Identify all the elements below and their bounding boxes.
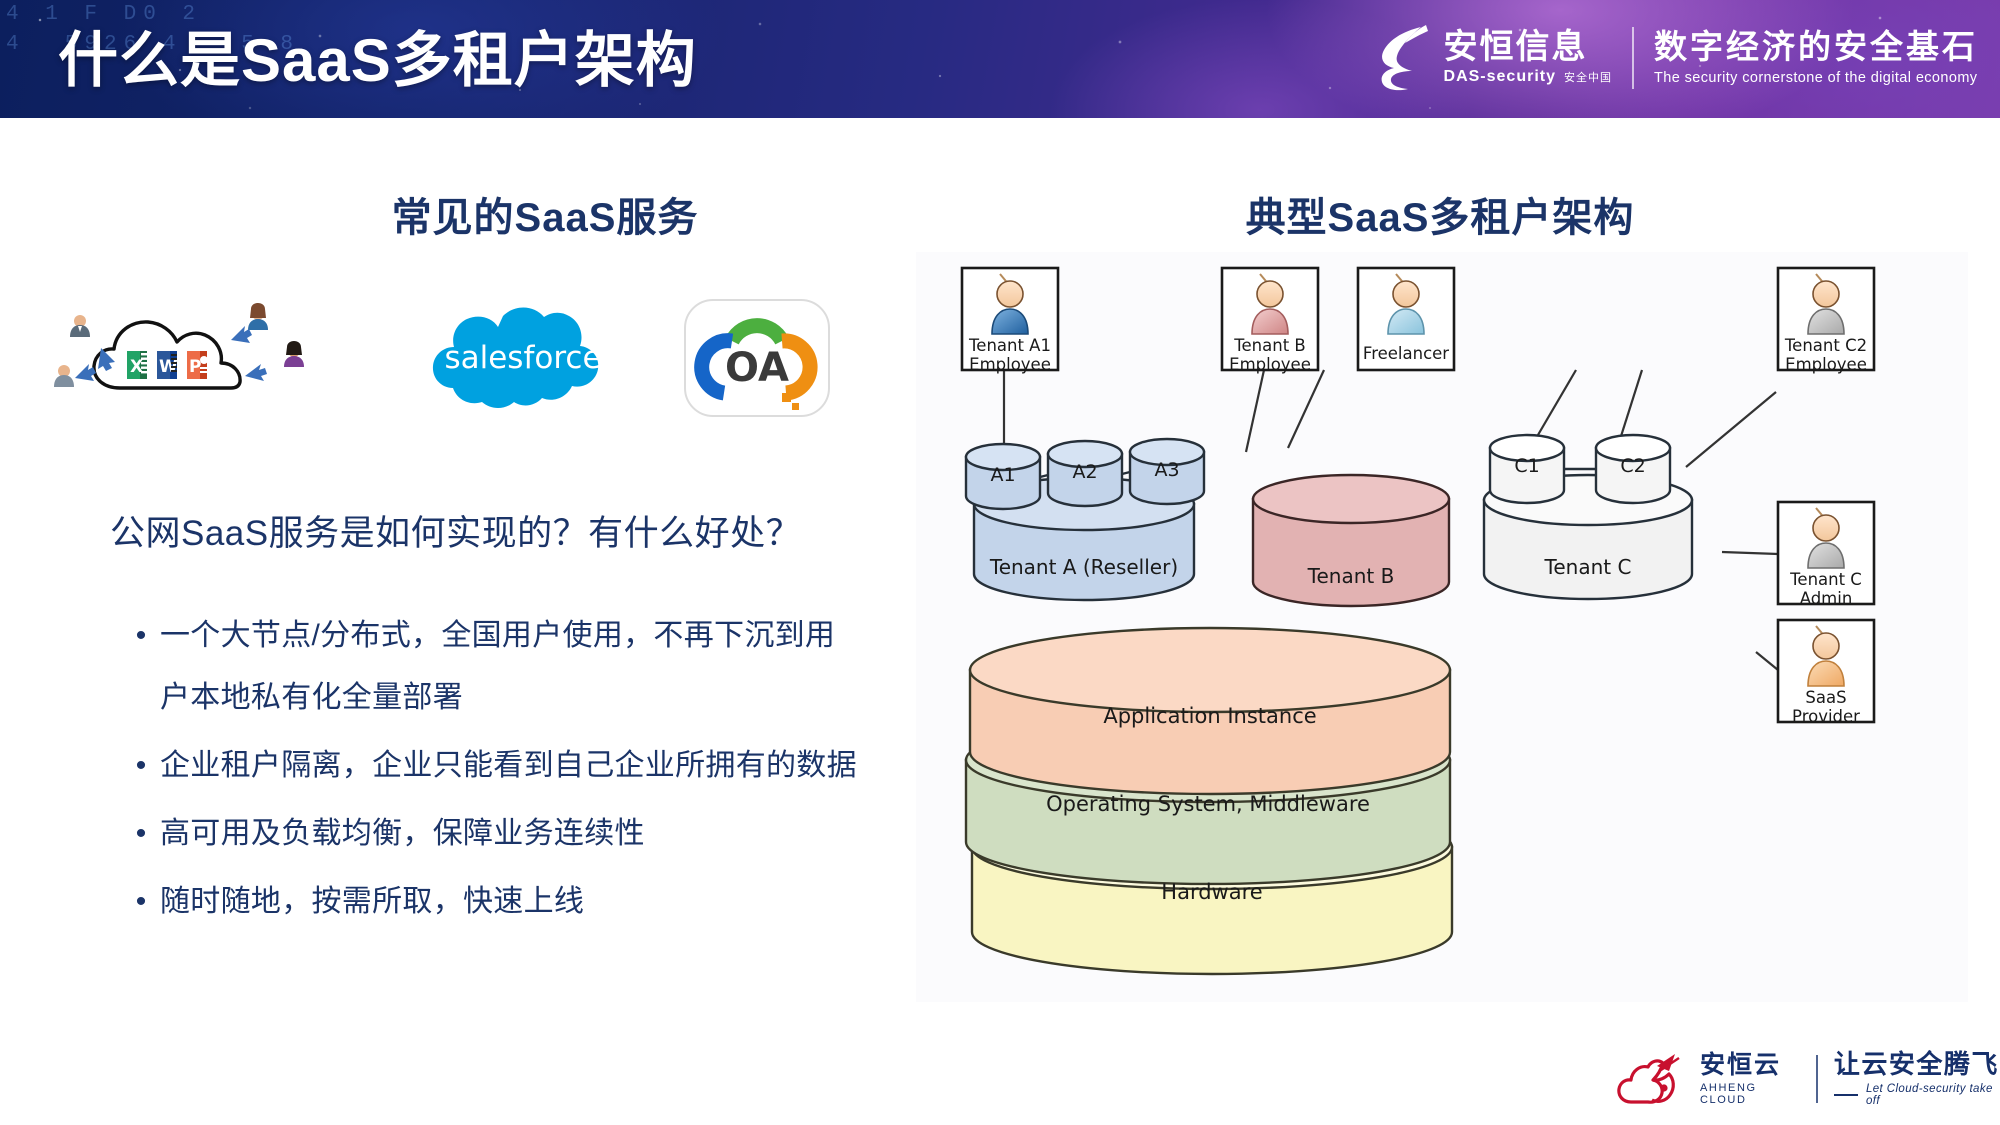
footer-dash-decoration bbox=[1834, 1094, 1858, 1096]
user-avatar-right bbox=[281, 341, 307, 368]
company-logo: 安恒信息 DAS-security 安全中国 数字经济的安全基石 The sec… bbox=[1374, 18, 1978, 98]
actor-box-freelancer bbox=[1358, 268, 1454, 370]
excel-icon: X bbox=[127, 351, 147, 379]
tenant-b-cylinder bbox=[1253, 475, 1449, 606]
svg-text:salesforce: salesforce bbox=[444, 340, 601, 376]
word-icon: W bbox=[157, 351, 178, 379]
svg-text:OA: OA bbox=[725, 345, 789, 391]
left-section-title: 常见的SaaS服务 bbox=[345, 185, 745, 243]
bullet-text: 一个大节点/分布式，全国用户使用，不再下沉到用户本地私有化全量部署 bbox=[160, 605, 860, 729]
header-slogan-cn: 数字经济的安全基石 bbox=[1654, 30, 1978, 65]
right-section-title: 典型SaaS多租户架构 bbox=[1190, 185, 1690, 243]
slide-root: 4 1 F D0 2 4 5926 4 5 8 什么是SaaS多租户架构 安恒信… bbox=[0, 0, 2000, 1125]
bullet-marker: • bbox=[122, 803, 160, 865]
tenant-a-db-a1 bbox=[966, 444, 1040, 509]
multi-tenant-architecture-diagram: Tenant A1Employee Tenant BEmployee Freel… bbox=[916, 252, 1968, 1002]
footer-logo: 安恒云 AHHENG CLOUD 让云安全腾飞 Let Cloud-securi… bbox=[1617, 1048, 2000, 1110]
bullet-marker: • bbox=[122, 871, 160, 933]
actor-box-tenant-c2-employee bbox=[1778, 268, 1874, 370]
brand-name-cn: 安恒信息 bbox=[1444, 30, 1612, 66]
slide-header: 4 1 F D0 2 4 5926 4 5 8 什么是SaaS多租户架构 安恒信… bbox=[0, 0, 2000, 118]
bullet-text: 高可用及负载均衡，保障业务连续性 bbox=[160, 803, 645, 865]
layer-application-instance bbox=[970, 628, 1450, 794]
bullet-marker: • bbox=[122, 735, 160, 797]
bullet-marker: • bbox=[122, 605, 160, 729]
list-item: • 随时随地，按需所取，快速上线 bbox=[122, 871, 922, 933]
actor-box-tenant-a1-employee bbox=[962, 268, 1058, 370]
tenant-a-db-a2 bbox=[1048, 441, 1122, 506]
ahheng-cloud-rocket-icon bbox=[1617, 1052, 1691, 1106]
svg-text:P: P bbox=[189, 357, 201, 377]
actor-box-saas-provider bbox=[1778, 620, 1874, 722]
bullet-text: 随时随地，按需所取，快速上线 bbox=[160, 871, 584, 933]
list-item: • 企业租户隔离，企业只能看到自己企业所拥有的数据 bbox=[122, 735, 922, 797]
footer-brand-en: AHHENG CLOUD bbox=[1700, 1082, 1800, 1106]
oa-app-icon: OA bbox=[682, 297, 832, 419]
footer-slogan-cn: 让云安全腾飞 bbox=[1834, 1051, 2000, 1078]
list-item: • 一个大节点/分布式，全国用户使用，不再下沉到用户本地私有化全量部署 bbox=[122, 605, 922, 729]
footer-slogan-en: Let Cloud-security take off bbox=[1866, 1083, 2000, 1107]
actor-box-tenant-b-employee bbox=[1222, 268, 1318, 370]
user-avatar-bottomleft bbox=[51, 362, 77, 388]
page-title: 什么是SaaS多租户架构 bbox=[58, 12, 697, 99]
list-item: • 高可用及负载均衡，保障业务连续性 bbox=[122, 803, 922, 865]
left-bullet-list: • 一个大节点/分布式，全国用户使用，不再下沉到用户本地私有化全量部署 • 企业… bbox=[122, 605, 922, 939]
tenant-a-db-a3 bbox=[1130, 439, 1204, 504]
salesforce-logo-icon: salesforce bbox=[428, 300, 618, 415]
left-question-text: 公网SaaS服务是如何实现的？有什么好处？ bbox=[110, 505, 930, 556]
footer-brand-cn: 安恒云 bbox=[1700, 1052, 1800, 1078]
header-slogan-en: The security cornerstone of the digital … bbox=[1654, 70, 1978, 86]
brand-name-en: DAS-security bbox=[1444, 68, 1556, 86]
logo-divider bbox=[1632, 27, 1634, 89]
tenant-c-db-c2 bbox=[1596, 435, 1670, 503]
office-cloud-users-icon: X W P bbox=[45, 290, 345, 400]
bullet-text: 企业租户隔离，企业只能看到自己企业所拥有的数据 bbox=[160, 735, 860, 797]
brand-tagline-cn: 安全中国 bbox=[1564, 69, 1612, 85]
actor-box-tenant-c-admin bbox=[1778, 502, 1874, 604]
powerpoint-icon: P bbox=[187, 351, 208, 379]
user-avatar-topright bbox=[245, 303, 271, 330]
das-security-swoosh-icon bbox=[1374, 23, 1436, 93]
tenant-c-db-c1 bbox=[1490, 435, 1564, 503]
diagram-canvas bbox=[916, 252, 1968, 1002]
footer-logo-divider bbox=[1816, 1055, 1817, 1103]
user-avatar-left bbox=[67, 312, 93, 338]
